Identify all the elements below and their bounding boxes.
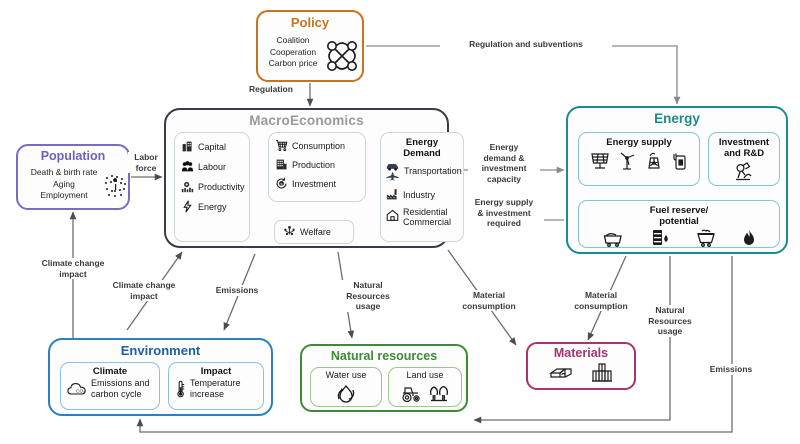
energy-demand-cap-l1: Energy bbox=[468, 142, 540, 153]
macro-input-label: Capital bbox=[198, 142, 226, 152]
macro-input-labour: Labour bbox=[181, 160, 249, 173]
energy-demand-residential: Residential Commercial bbox=[386, 207, 463, 227]
macro-inputs-box[interactable]: Capital Labour Produ bbox=[174, 132, 250, 242]
energy-fuel-title-l1: Fuel reserve/ bbox=[579, 205, 779, 216]
population-item-birth-death: Death & birth rate bbox=[22, 167, 106, 179]
natural-resources-title: Natural resources bbox=[302, 349, 466, 363]
energy-supply-box[interactable]: Energy supply bbox=[578, 132, 700, 186]
impact-title: Impact bbox=[169, 366, 263, 377]
impact-body: Temperature increase bbox=[175, 378, 263, 400]
macro-flow-consumption: Consumption bbox=[275, 139, 365, 152]
edge-label-regulation-subventions: Regulation and subventions bbox=[440, 39, 612, 50]
edge-label-material-consumption-energy: Material consumption bbox=[560, 290, 642, 311]
factory-icon bbox=[181, 140, 194, 153]
macro-input-label: Labour bbox=[198, 162, 226, 172]
land-use-label: Land use bbox=[389, 370, 461, 380]
battery-plug-icon bbox=[671, 151, 689, 171]
metal-ingots-icon bbox=[591, 362, 613, 384]
energy-demand-title: Energy Demand bbox=[381, 137, 463, 159]
edge-label-material-consumption-macro: Material consumption bbox=[448, 290, 530, 311]
edge-label-natural-resources-usage-energy: Natural Resources usage bbox=[639, 305, 701, 337]
energy-demand-title-l1: Energy bbox=[381, 137, 463, 148]
thermometer-icon bbox=[175, 380, 186, 398]
people-icon bbox=[181, 160, 194, 173]
energy-rd-box[interactable]: Investment and R&D bbox=[708, 132, 780, 186]
population-item-employment: Employment bbox=[22, 190, 106, 202]
macro-welfare-row: Welfare bbox=[283, 225, 353, 238]
land-use-icons bbox=[389, 383, 461, 403]
wind-turbine-icon bbox=[617, 151, 637, 171]
energy-rd-icons bbox=[709, 162, 779, 182]
energy-supply-req-l3: required bbox=[464, 218, 544, 229]
climate-label: Emissions and carbon cycle bbox=[91, 378, 150, 400]
macro-flow-investment: $ Investment bbox=[275, 177, 365, 190]
policy-items: Coalition Cooperation Carbon price bbox=[262, 35, 324, 70]
macro-flow-production: Production bbox=[275, 158, 365, 171]
gears-icon bbox=[181, 180, 194, 193]
policy-box[interactable]: Policy Coalition Cooperation Carbon pric… bbox=[256, 10, 364, 82]
co2-cloud-icon: CO₂ bbox=[67, 381, 87, 397]
natural-resources-box[interactable]: Natural resources Water use Land use bbox=[300, 344, 468, 412]
energy-supply-req-l2: & investment bbox=[464, 208, 544, 219]
coal-cart-icon bbox=[696, 229, 716, 247]
macro-input-label: Productivity bbox=[198, 182, 245, 192]
materials-stack-icon bbox=[549, 363, 573, 383]
population-box[interactable]: Population Death & birth rate Aging Empl… bbox=[16, 144, 130, 210]
labor-force-l1: Labor bbox=[128, 152, 164, 163]
energy-rd-title: Investment and R&D bbox=[709, 137, 779, 159]
matcons-energy-l1: Material bbox=[560, 290, 642, 301]
macro-input-capital: Capital bbox=[181, 140, 249, 153]
macro-input-label: Energy bbox=[198, 202, 227, 212]
energy-demand-label: Industry bbox=[403, 190, 435, 200]
microscope-icon bbox=[733, 162, 755, 182]
labor-force-l2: force bbox=[128, 163, 164, 174]
environment-climate-box[interactable]: Climate CO₂ Emissions and carbon cycle bbox=[60, 362, 160, 410]
energy-fuel-icons bbox=[579, 229, 779, 247]
edge-label-labor-force: Labor force bbox=[128, 152, 164, 173]
climate-body: CO₂ Emissions and carbon cycle bbox=[67, 378, 159, 400]
environment-title: Environment bbox=[50, 343, 271, 358]
macroeconomics-title: MacroEconomics bbox=[166, 113, 447, 128]
industry-icon bbox=[386, 188, 399, 201]
energy-demand-cap-l2: demand & bbox=[468, 153, 540, 164]
nru-energy-l2: Resources bbox=[639, 316, 701, 327]
network-nodes-icon bbox=[324, 38, 360, 74]
population-dots-icon bbox=[103, 172, 129, 200]
car-plane-icon bbox=[386, 161, 400, 181]
energy-rd-title-l2: and R&D bbox=[709, 148, 779, 159]
policy-item-coalition: Coalition bbox=[262, 35, 324, 47]
cci-macro-l1: Climate change bbox=[98, 280, 190, 291]
gas-flame-icon bbox=[742, 229, 756, 247]
macro-flow-label: Investment bbox=[292, 179, 336, 189]
energy-demand-cap-l4: capacity bbox=[468, 174, 540, 185]
environment-impact-box[interactable]: Impact Temperature increase bbox=[168, 362, 264, 410]
macro-welfare-label: Welfare bbox=[300, 227, 331, 237]
cci-pop-l2: impact bbox=[27, 269, 119, 280]
water-use-icons bbox=[311, 383, 381, 405]
matcons-energy-l2: consumption bbox=[560, 301, 642, 312]
edge-label-emissions-energy: Emissions bbox=[700, 364, 762, 375]
policy-item-carbon-price: Carbon price bbox=[262, 58, 324, 70]
materials-title: Materials bbox=[528, 346, 634, 360]
population-title: Population bbox=[18, 149, 128, 163]
edge-label-climate-change-impact-macro: Climate change impact bbox=[98, 280, 190, 301]
edge-label-energy-supply-required: Energy supply & investment required bbox=[464, 197, 544, 229]
tractor-icon bbox=[400, 383, 422, 403]
macroeconomics-box[interactable]: MacroEconomics Capital bbox=[164, 108, 449, 248]
edge-label-climate-change-impact-population: Climate change impact bbox=[27, 258, 119, 279]
oil-barrel-icon bbox=[650, 229, 670, 247]
energy-fuel-title: Fuel reserve/ potential bbox=[579, 205, 779, 227]
energy-supply-req-l1: Energy supply bbox=[464, 197, 544, 208]
matcons-macro-l1: Material bbox=[448, 290, 530, 301]
materials-box[interactable]: Materials bbox=[526, 342, 636, 390]
policy-title: Policy bbox=[258, 15, 362, 30]
edge-label-emissions-macro: Emissions bbox=[206, 285, 268, 296]
energy-demand-label: Transportation bbox=[404, 166, 462, 176]
coal-wagon-icon bbox=[602, 229, 624, 247]
macro-input-productivity: Productivity bbox=[181, 180, 249, 193]
water-drop-cycle-icon bbox=[335, 383, 357, 405]
macro-flow-label: Production bbox=[292, 160, 335, 170]
energy-rd-title-l1: Investment bbox=[709, 137, 779, 148]
energy-demand-cap-l3: investment bbox=[468, 163, 540, 174]
lightning-bolt-icon bbox=[181, 200, 194, 213]
population-items: Death & birth rate Aging Employment bbox=[22, 167, 106, 202]
energy-demand-label: Residential Commercial bbox=[403, 207, 463, 227]
nru-macro-l1: Natural bbox=[337, 280, 399, 291]
macro-energy-demand-box[interactable]: Energy Demand Transportation bbox=[380, 132, 464, 242]
macro-flows-box[interactable]: Consumption Production bbox=[268, 132, 366, 202]
energy-supply-icons bbox=[579, 151, 699, 171]
edge-label-energy-demand-investment: Energy demand & investment capacity bbox=[468, 142, 540, 184]
energy-box[interactable]: Energy Energy supply bbox=[566, 106, 788, 254]
energy-fuel-box[interactable]: Fuel reserve/ potential bbox=[578, 200, 780, 248]
climate-title: Climate bbox=[61, 366, 159, 377]
matcons-macro-l2: consumption bbox=[448, 301, 530, 312]
solar-panel-icon bbox=[590, 151, 610, 171]
energy-fuel-title-l2: potential bbox=[579, 216, 779, 227]
residential-commercial-label: Residential Commercial bbox=[403, 207, 463, 227]
cci-pop-l1: Climate change bbox=[27, 258, 119, 269]
cci-macro-l2: impact bbox=[98, 291, 190, 302]
house-icon bbox=[386, 209, 399, 222]
land-use-box[interactable]: Land use bbox=[388, 367, 462, 407]
trees-icon bbox=[428, 383, 450, 403]
nru-macro-l3: usage bbox=[337, 301, 399, 312]
energy-demand-title-l2: Demand bbox=[381, 148, 463, 159]
energy-demand-industry: Industry bbox=[386, 188, 463, 201]
population-item-aging: Aging bbox=[22, 179, 106, 191]
svg-text:CO₂: CO₂ bbox=[76, 389, 85, 395]
nru-energy-l3: usage bbox=[639, 326, 701, 337]
building-icon bbox=[275, 158, 288, 171]
water-use-label: Water use bbox=[311, 370, 381, 380]
water-use-box[interactable]: Water use bbox=[310, 367, 382, 407]
welfare-people-icon bbox=[283, 225, 296, 238]
nru-macro-l2: Resources bbox=[337, 291, 399, 302]
macro-flow-label: Consumption bbox=[292, 141, 345, 151]
energy-title: Energy bbox=[568, 111, 786, 126]
diagram-canvas: Policy Coalition Cooperation Carbon pric… bbox=[0, 0, 800, 444]
macro-input-energy: Energy bbox=[181, 200, 249, 213]
environment-box[interactable]: Environment Climate CO₂ Emissions and ca… bbox=[48, 338, 273, 416]
energy-supply-title: Energy supply bbox=[579, 137, 699, 148]
energy-demand-transportation: Transportation bbox=[386, 161, 463, 181]
nuclear-plant-icon bbox=[644, 151, 664, 171]
policy-item-cooperation: Cooperation bbox=[262, 47, 324, 59]
edge-label-regulation: Regulation bbox=[236, 84, 306, 95]
investment-cycle-icon: $ bbox=[275, 177, 288, 190]
impact-label: Temperature increase bbox=[190, 378, 241, 400]
materials-icons bbox=[528, 362, 634, 384]
edge-label-natural-resources-usage-macro: Natural Resources usage bbox=[337, 280, 399, 312]
macro-welfare-box[interactable]: Welfare bbox=[274, 220, 354, 244]
shopping-cart-icon bbox=[275, 139, 288, 152]
nru-energy-l1: Natural bbox=[639, 305, 701, 316]
